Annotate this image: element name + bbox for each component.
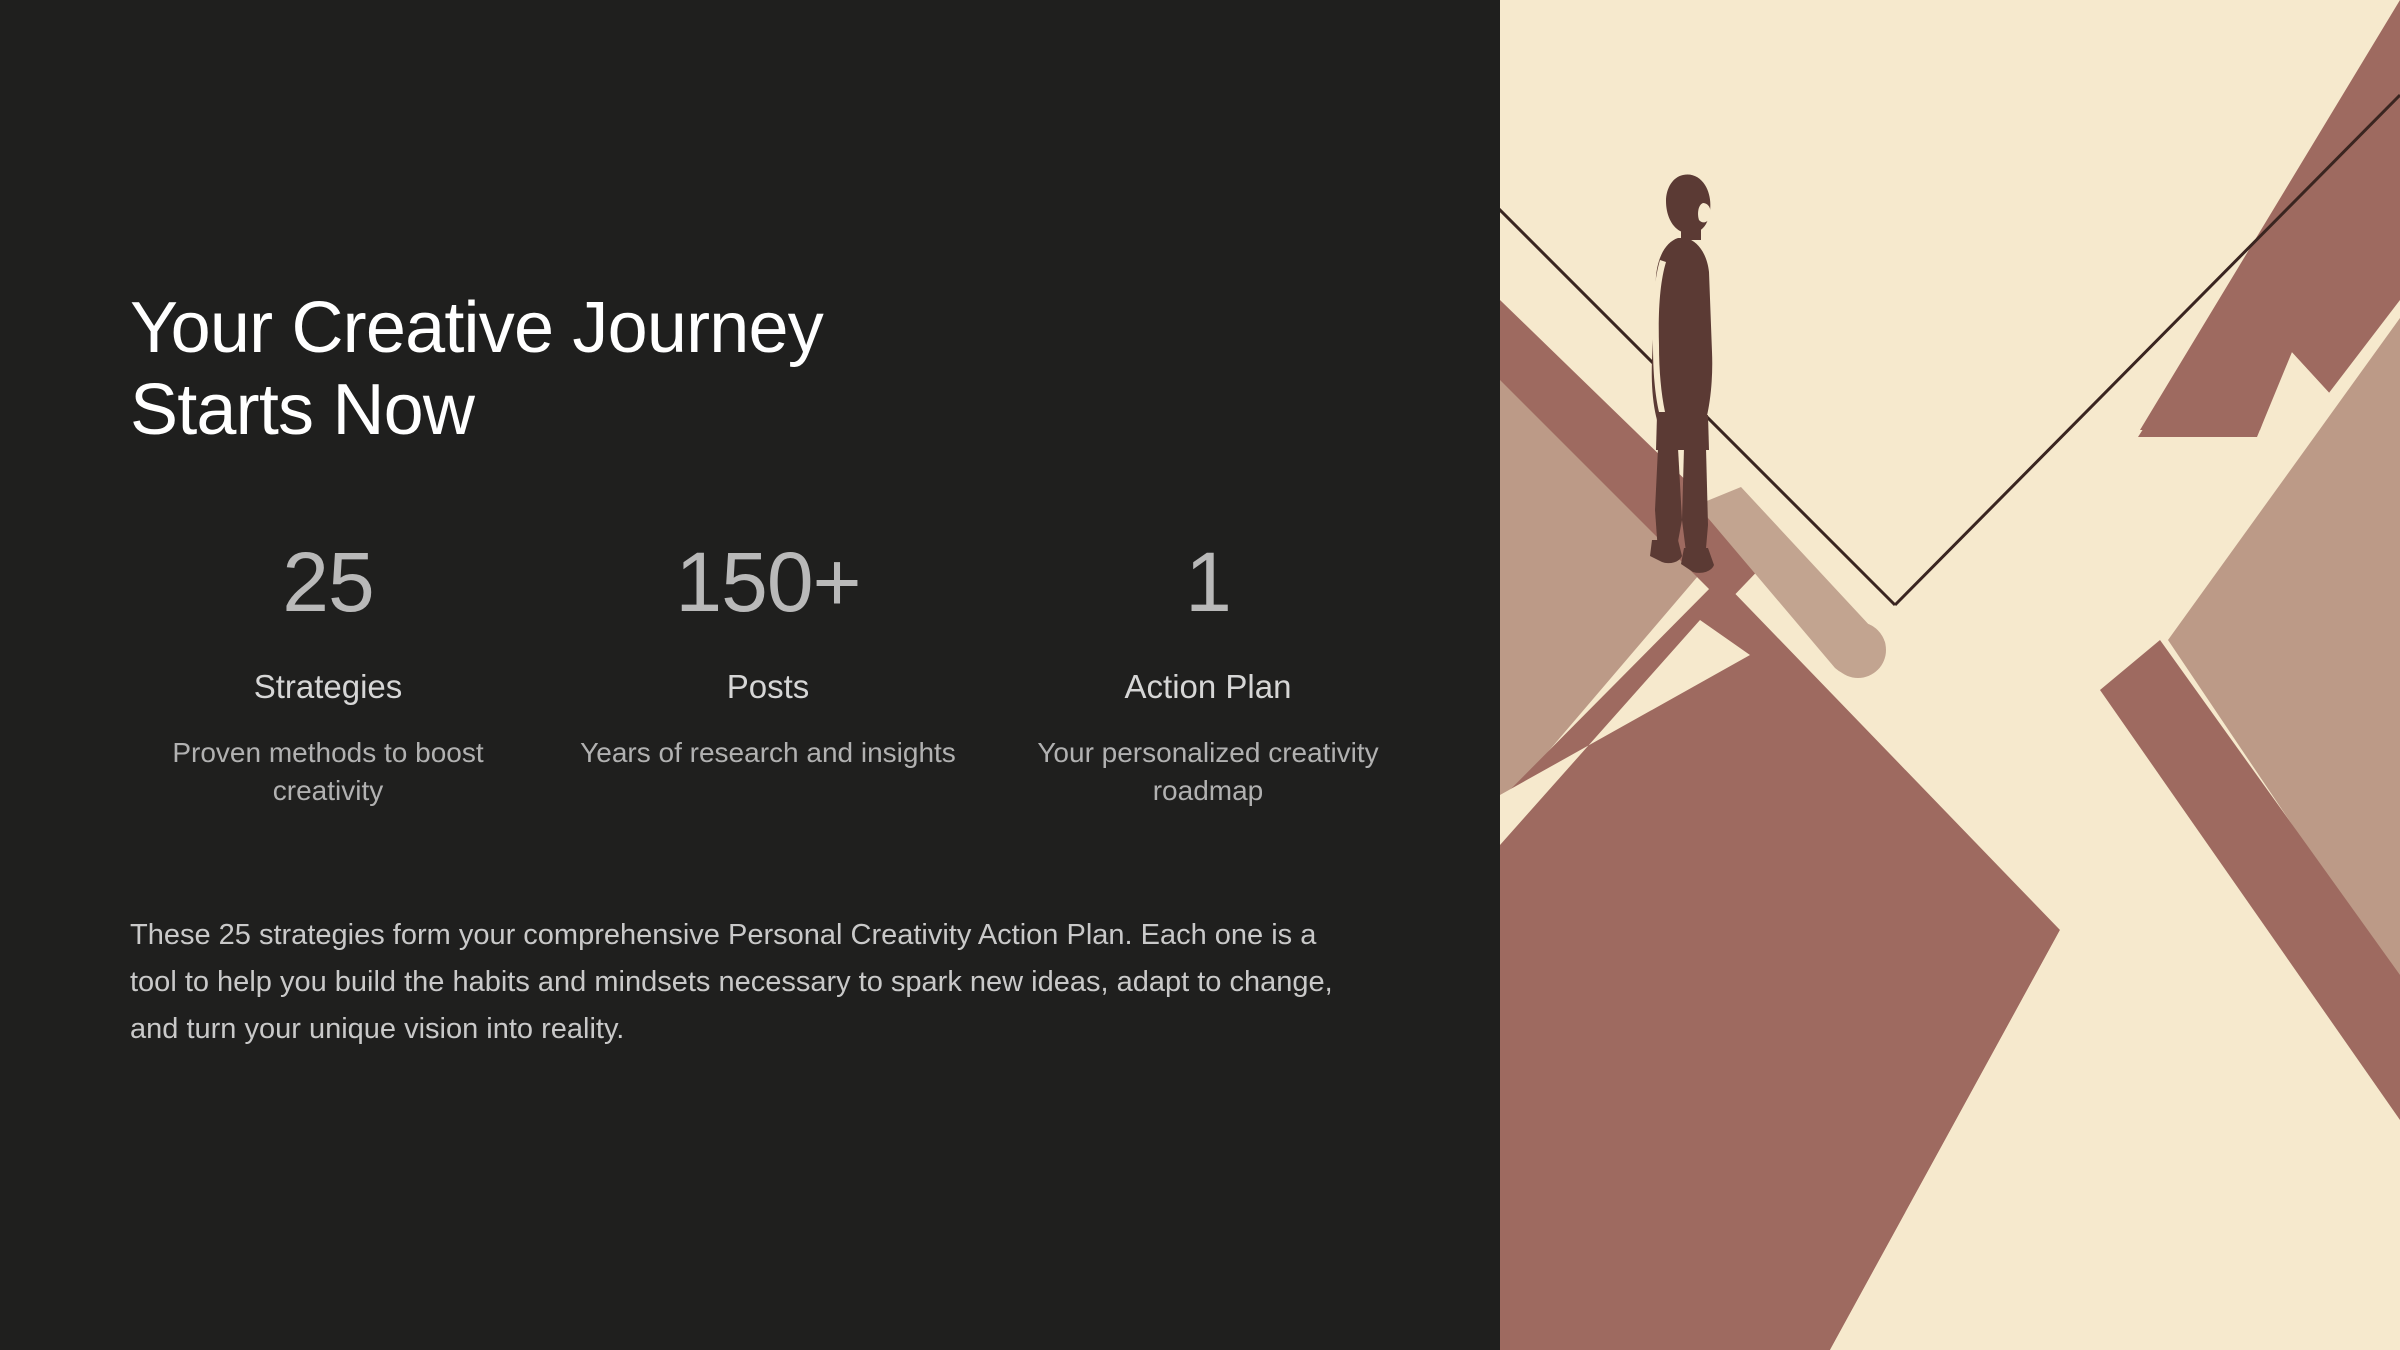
stat-label: Posts [558, 667, 978, 707]
crossroads-illustration [1500, 0, 2400, 1350]
stat-item-strategies: 25 Strategies Proven methods to boost cr… [108, 540, 548, 810]
stat-description: Years of research and insights [558, 734, 978, 772]
body-paragraph: These 25 strategies form your comprehens… [130, 912, 1345, 1053]
stat-value: 1 [998, 540, 1418, 624]
stat-value: 25 [118, 540, 538, 624]
slide-root: Your Creative JourneyStarts Now 25 Strat… [0, 0, 2400, 1350]
stat-label: Action Plan [998, 667, 1418, 707]
stat-description: Proven methods to boost creativity [118, 734, 538, 810]
stat-value: 150+ [558, 540, 978, 624]
page-title: Your Creative JourneyStarts Now [130, 287, 1310, 451]
stat-item-posts: 150+ Posts Years of research and insight… [548, 540, 988, 772]
stats-row: 25 Strategies Proven methods to boost cr… [108, 540, 1428, 810]
stat-item-action-plan: 1 Action Plan Your personalized creativi… [988, 540, 1428, 810]
stat-description: Your personalized creativity roadmap [998, 734, 1418, 810]
content-panel: Your Creative JourneyStarts Now 25 Strat… [0, 0, 1500, 1350]
headline-line-1: Your Creative Journey [130, 288, 823, 368]
stat-label: Strategies [118, 667, 538, 707]
headline-line-2: Starts Now [130, 370, 474, 450]
